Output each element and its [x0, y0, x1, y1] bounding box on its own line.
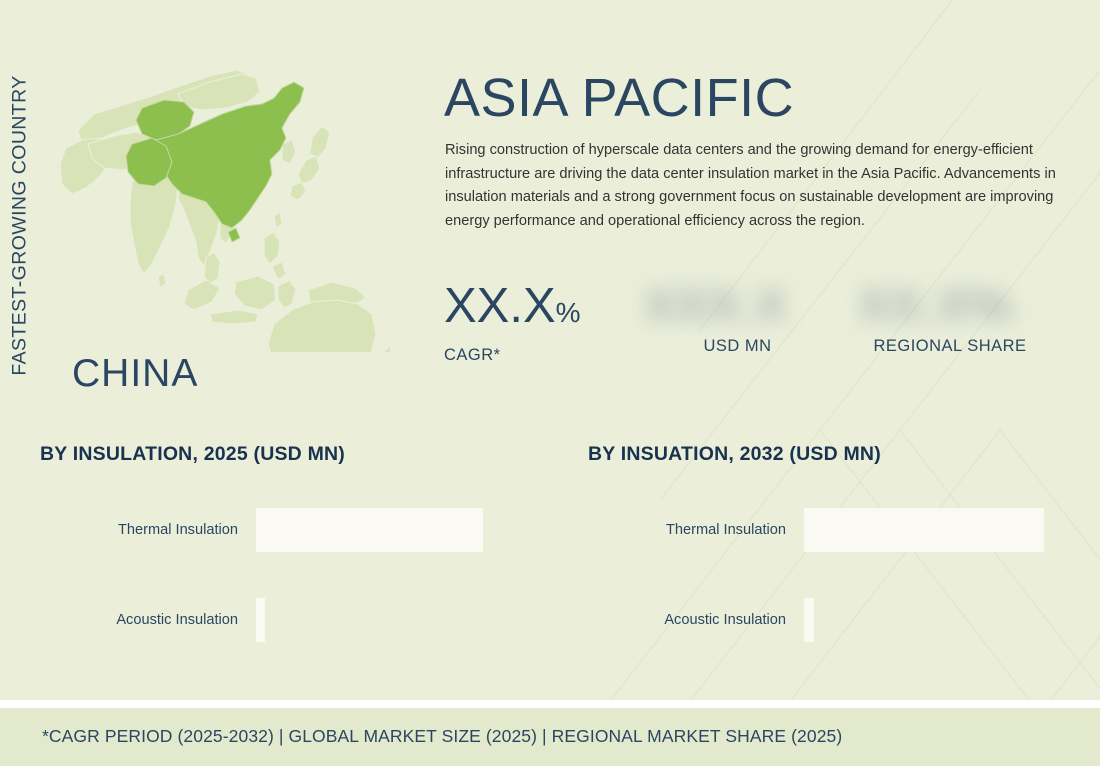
bar-track	[256, 508, 540, 552]
fastest-growing-country-label: FASTEST-GROWING COUNTRY	[0, 60, 40, 390]
bar-row: Acoustic Insulation	[588, 598, 1088, 642]
bar-thermal-2025	[256, 508, 483, 552]
main-panel: FASTEST-GROWING COUNTRY	[0, 0, 1100, 700]
stat-market-size: XXX.X USD MN	[620, 275, 855, 356]
country-name: CHINA	[72, 352, 198, 396]
bar-thermal-2032	[804, 508, 1044, 552]
bar-label-thermal-2025: Thermal Insulation	[40, 522, 238, 538]
bar-label-acoustic-2025: Acoustic Insulation	[40, 612, 238, 628]
stats-row: XX.X% CAGR* XXX.X USD MN XX.X% REGIONAL …	[440, 275, 1060, 380]
bar-acoustic-2025	[256, 598, 265, 642]
footer-note: *CAGR PERIOD (2025-2032) | GLOBAL MARKET…	[42, 726, 842, 747]
vertical-label-text: FASTEST-GROWING COUNTRY	[9, 75, 32, 375]
bar-track	[256, 598, 540, 642]
asia-pacific-map-icon	[60, 52, 390, 352]
bar-row: Acoustic Insulation	[40, 598, 540, 642]
stat-regional-share: XX.X% REGIONAL SHARE	[840, 275, 1060, 356]
stat-market-size-value-censored: XXX.X	[620, 275, 810, 337]
stat-cagr: XX.X% CAGR*	[444, 275, 581, 365]
chart-by-insulation-2025: BY INSULATION, 2025 (USD MN) Thermal Ins…	[40, 443, 540, 688]
bar-acoustic-2032	[804, 598, 814, 642]
infographic-root: FASTEST-GROWING COUNTRY	[0, 0, 1100, 766]
stat-regional-share-value-censored: XX.X%	[840, 275, 1030, 337]
bar-track	[804, 508, 1088, 552]
footer-separator	[0, 700, 1100, 708]
chart-by-insulation-2032: BY INSUATION, 2032 (USD MN) Thermal Insu…	[588, 443, 1088, 688]
stat-market-size-label: USD MN	[620, 337, 855, 356]
page-title: ASIA PACIFIC	[444, 70, 794, 127]
stat-regional-share-label: REGIONAL SHARE	[840, 337, 1060, 356]
bar-track	[804, 598, 1088, 642]
chart-2032-title: BY INSUATION, 2032 (USD MN)	[588, 443, 1088, 466]
bar-label-acoustic-2032: Acoustic Insulation	[588, 612, 786, 628]
bar-row: Thermal Insulation	[588, 508, 1088, 552]
bar-label-thermal-2032: Thermal Insulation	[588, 522, 786, 538]
stat-cagr-label: CAGR*	[444, 346, 581, 365]
region-description: Rising construction of hyperscale data c…	[445, 139, 1057, 233]
chart-2025-title: BY INSULATION, 2025 (USD MN)	[40, 443, 540, 466]
stat-cagr-value: XX.X%	[444, 275, 581, 344]
bar-row: Thermal Insulation	[40, 508, 540, 552]
